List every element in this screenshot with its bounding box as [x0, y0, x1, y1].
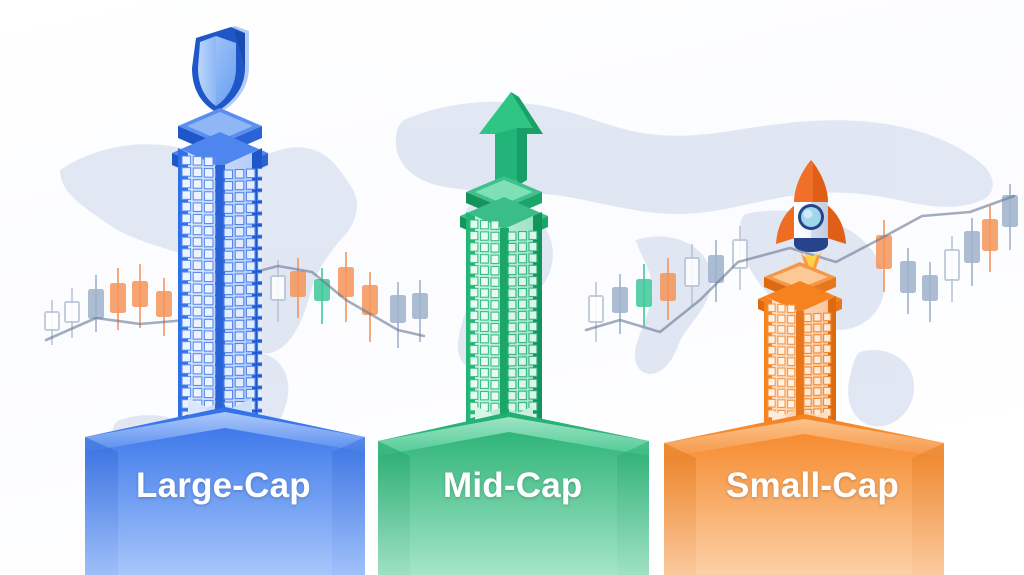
pedestal-label-mid-cap: Mid-Cap	[443, 466, 582, 506]
pedestal-label-small-cap: Small-Cap	[726, 466, 899, 506]
illustration-canvas: Large-Cap Mid-Cap Small-Cap	[0, 0, 1024, 575]
pedestal-label-large-cap: Large-Cap	[136, 466, 311, 506]
